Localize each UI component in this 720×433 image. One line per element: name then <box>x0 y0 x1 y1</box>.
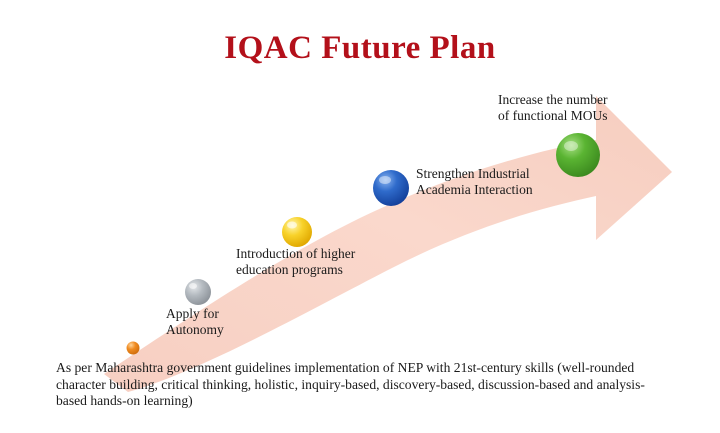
milestone-label-autonomy: Apply for Autonomy <box>166 306 224 338</box>
green-sphere-marker <box>556 133 600 177</box>
milestone-label-programs: Introduction of higher education program… <box>236 246 355 278</box>
footnote-text: As per Maharashtra government guidelines… <box>56 360 671 410</box>
milestone-label-mous: Increase the number of functional MOUs <box>498 92 607 124</box>
blue-sphere-marker <box>373 170 409 206</box>
grey-sphere-marker <box>185 279 211 305</box>
yellow-sphere-marker <box>282 217 312 247</box>
milestone-label-industry: Strengthen Industrial Academia Interacti… <box>416 166 533 198</box>
orange-sphere-marker <box>127 342 140 355</box>
slide-canvas: IQAC Future Plan <box>0 0 720 433</box>
